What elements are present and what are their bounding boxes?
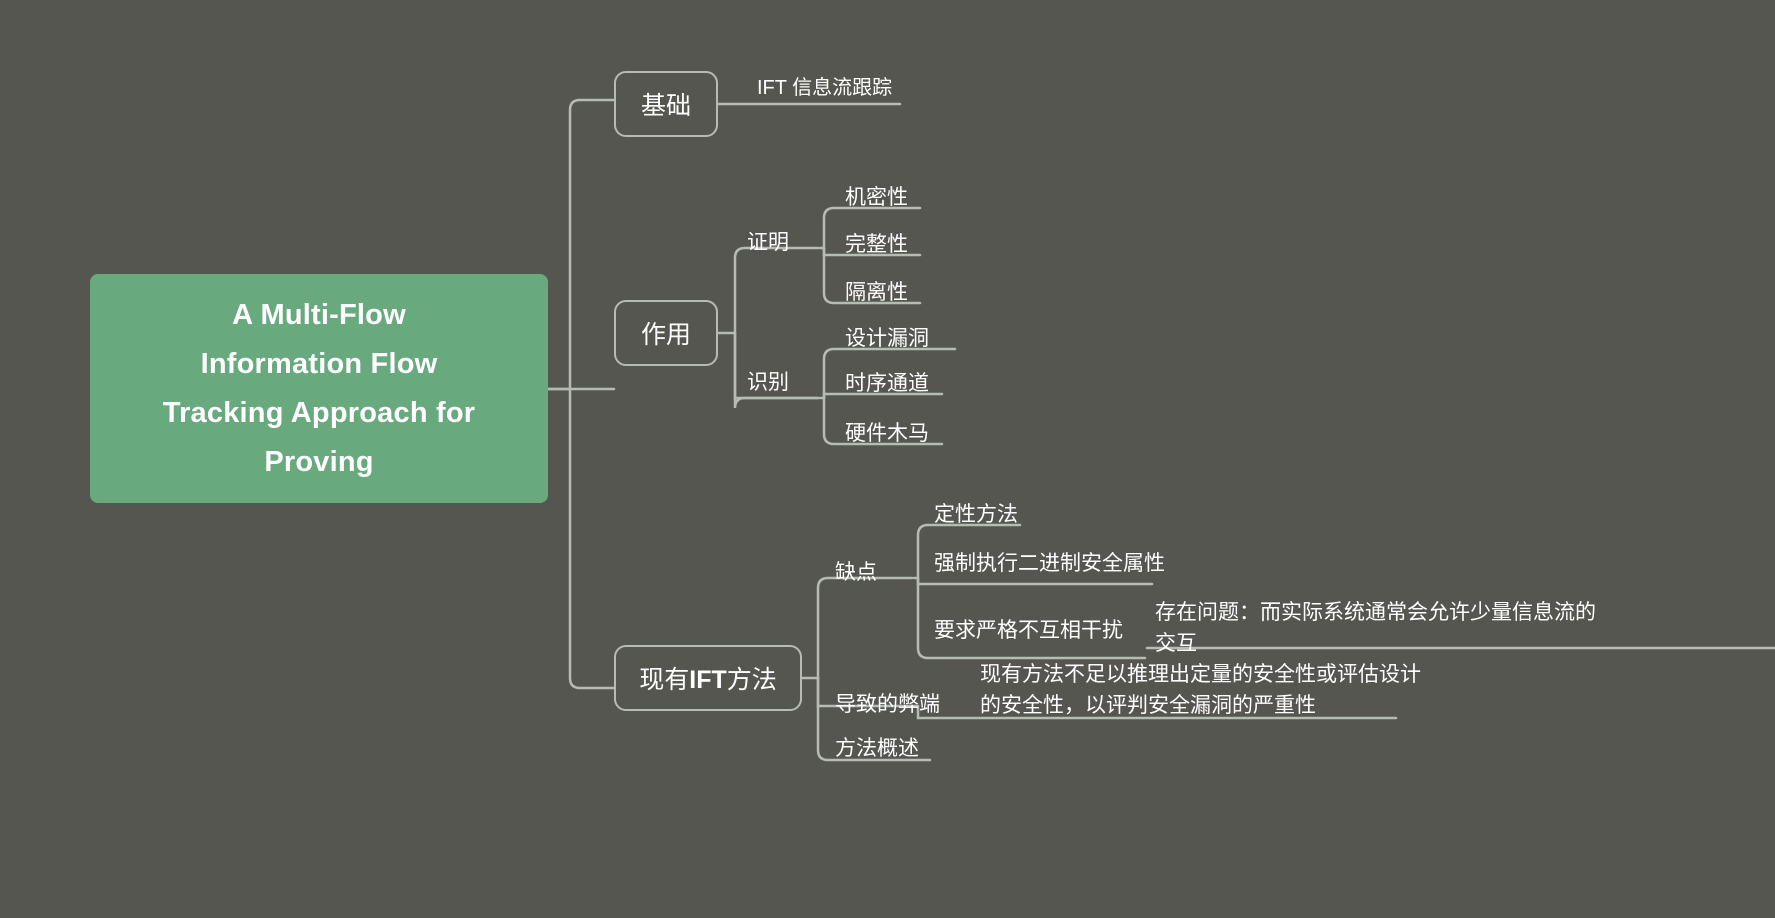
leaf-method-overview-label: 方法概述 (835, 733, 919, 764)
node-resulting-drawbacks[interactable]: 导致的弊端 (835, 686, 975, 722)
leaf-design-flaw[interactable]: 设计漏洞 (845, 320, 1025, 356)
root-node-label: A Multi-Flow Information Flow Tracking A… (163, 291, 476, 487)
leaf-confidentiality-label: 机密性 (845, 182, 908, 213)
leaf-integrity-label: 完整性 (845, 229, 908, 260)
leaf-qualitative-method[interactable]: 定性方法 (934, 496, 1134, 532)
branch-node-jichu[interactable]: 基础 (614, 71, 718, 137)
leaf-isolation[interactable]: 隔离性 (845, 274, 1005, 310)
leaf-ift-tracking-label: IFT 信息流跟踪 (757, 73, 892, 104)
leaf-isolation-label: 隔离性 (845, 277, 908, 308)
node-zhengming-label: 证明 (747, 227, 789, 258)
node-shibie[interactable]: 识别 (747, 364, 817, 400)
leaf-insufficient-quantitative-security[interactable]: 现有方法不足以推理出定量的安全性或评估设计 的安全性，以评判安全漏洞的严重性 (980, 659, 1540, 719)
node-zhengming[interactable]: 证明 (747, 224, 817, 260)
leaf-confidentiality[interactable]: 机密性 (845, 179, 1005, 215)
leaf-existing-problem-label: 存在问题：而实际系统通常会允许少量信息流的 交互 (1155, 597, 1596, 659)
branch-node-existing-ift-methods-label: 现有IFT方法 (639, 660, 777, 696)
branch-node-jichu-label: 基础 (641, 86, 691, 122)
leaf-hardware-trojan[interactable]: 硬件木马 (845, 415, 1025, 451)
leaf-timing-channel-label: 时序通道 (845, 368, 929, 399)
node-shibie-label: 识别 (747, 367, 789, 398)
leaf-ift-tracking[interactable]: IFT 信息流跟踪 (757, 70, 1057, 106)
leaf-timing-channel[interactable]: 时序通道 (845, 365, 1025, 401)
branch-node-zuoyong-label: 作用 (641, 315, 691, 351)
leaf-qualitative-method-label: 定性方法 (934, 499, 1018, 530)
node-resulting-drawbacks-label: 导致的弊端 (835, 689, 940, 720)
leaf-binary-security-property[interactable]: 强制执行二进制安全属性 (934, 545, 1234, 581)
node-disadvantages-label: 缺点 (835, 557, 877, 588)
mindmap-canvas: A Multi-Flow Information Flow Tracking A… (0, 0, 1775, 918)
leaf-integrity[interactable]: 完整性 (845, 226, 1005, 262)
leaf-strict-noninterference-label: 要求严格不互相干扰 (934, 615, 1123, 646)
leaf-hardware-trojan-label: 硬件木马 (845, 418, 929, 449)
leaf-method-overview[interactable]: 方法概述 (835, 730, 995, 766)
leaf-design-flaw-label: 设计漏洞 (845, 323, 929, 354)
leaf-insufficient-quantitative-security-label: 现有方法不足以推理出定量的安全性或评估设计 的安全性，以评判安全漏洞的严重性 (980, 659, 1421, 721)
leaf-existing-problem[interactable]: 存在问题：而实际系统通常会允许少量信息流的 交互 (1155, 597, 1775, 657)
root-node[interactable]: A Multi-Flow Information Flow Tracking A… (90, 274, 548, 503)
branch-node-zuoyong[interactable]: 作用 (614, 300, 718, 366)
node-disadvantages[interactable]: 缺点 (835, 554, 915, 590)
branch-node-existing-ift-methods[interactable]: 现有IFT方法 (614, 645, 802, 711)
leaf-binary-security-property-label: 强制执行二进制安全属性 (934, 548, 1165, 579)
